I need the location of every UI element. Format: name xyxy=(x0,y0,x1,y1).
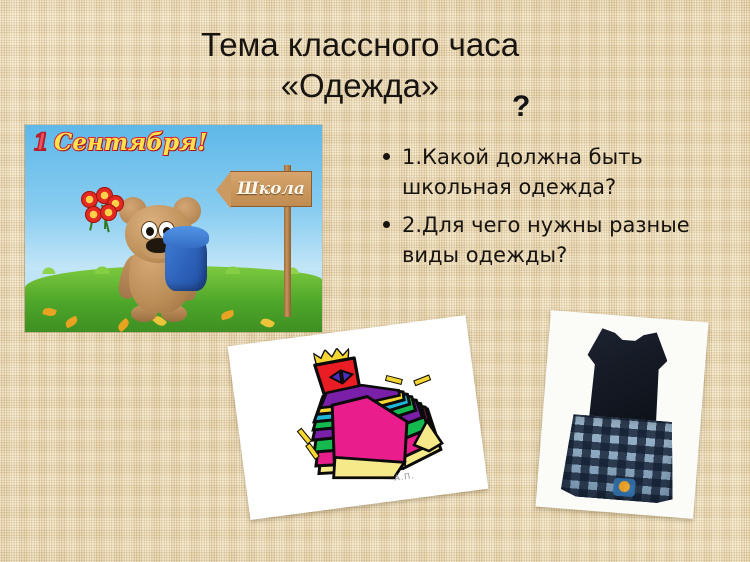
page-title-line-2: «Одежда» xyxy=(100,65,620,106)
page-title: Тема классного часа «Одежда» xyxy=(100,24,620,106)
school-uniform-photo xyxy=(536,310,709,519)
backpack-icon xyxy=(165,233,207,291)
list-item-label: 2.Для чего нужны разные виды одежды? xyxy=(402,213,690,267)
banner-word: Сентября! xyxy=(54,129,207,156)
uniform-emblem xyxy=(613,478,636,498)
flower-icon xyxy=(100,204,117,221)
signpost-board: Школа xyxy=(230,171,312,207)
uniform-bodice xyxy=(583,327,670,425)
presentation-slide: Тема классного часа «Одежда» ? 1Сентября… xyxy=(0,0,750,562)
bullet-dot-icon xyxy=(383,153,390,160)
list-item: 1.Какой должна быть школьная одежда? xyxy=(378,142,708,202)
uniform-figure xyxy=(558,326,685,506)
page-title-line-1: Тема классного часа xyxy=(100,24,620,65)
backpack-flap xyxy=(163,226,209,248)
banner-number: 1 xyxy=(33,129,49,156)
bullet-dot-icon xyxy=(383,221,390,228)
1-september-bear-picture: 1Сентября! Школа xyxy=(25,125,322,332)
question-list: 1.Какой должна быть школьная одежда? 2.Д… xyxy=(378,142,708,270)
dress-illustration xyxy=(269,345,456,506)
list-item: 2.Для чего нужны разные виды одежды? xyxy=(378,210,708,270)
list-item-label: 1.Какой должна быть школьная одежда? xyxy=(402,145,643,199)
princess-dress-drawing: А.П. xyxy=(228,315,489,520)
question-mark: ? xyxy=(512,92,530,122)
signpost-label: Школа xyxy=(231,179,311,199)
first-september-banner: 1Сентября! xyxy=(33,130,207,156)
flower-bouquet-icon xyxy=(81,187,125,237)
